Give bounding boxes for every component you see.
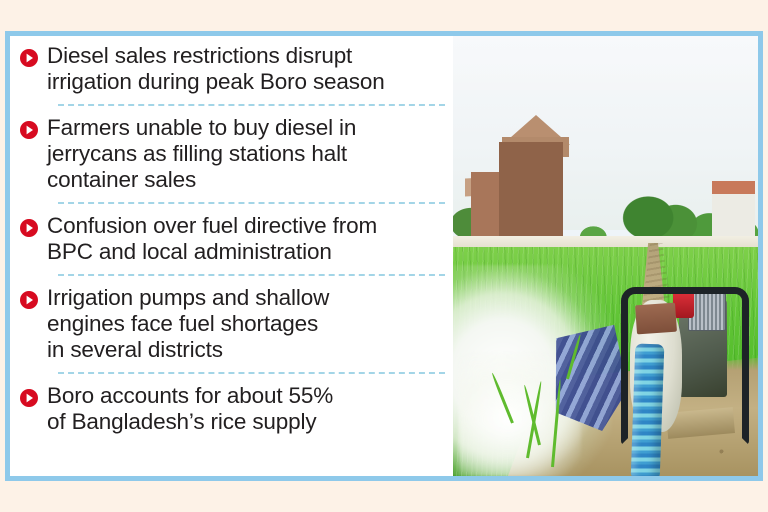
divider: [58, 372, 445, 374]
brick-house: [499, 142, 563, 243]
play-circle-icon: [20, 291, 38, 309]
ribbed-hose: [631, 344, 665, 476]
infographic-card: Diesel sales restrictions disrupt irriga…: [5, 31, 763, 481]
list-item-text: Farmers unable to buy diesel in jerrycan…: [47, 115, 447, 193]
bullet-list: Diesel sales restrictions disrupt irriga…: [10, 36, 453, 476]
irrigation-photo: [453, 36, 758, 476]
list-item: Diesel sales restrictions disrupt irriga…: [10, 43, 453, 95]
list-item-text: Irrigation pumps and shallow engines fac…: [47, 285, 447, 363]
list-item: Farmers unable to buy diesel in jerrycan…: [10, 115, 453, 193]
list-item-text: Confusion over fuel directive from BPC a…: [47, 213, 447, 265]
list-item-text: Boro accounts for about 55% of Banglades…: [47, 383, 447, 435]
divider: [58, 104, 445, 106]
infographic-root: Diesel sales restrictions disrupt irriga…: [0, 0, 768, 512]
play-circle-icon: [20, 219, 38, 237]
play-circle-icon: [20, 49, 38, 67]
photo-stage: [453, 36, 758, 476]
list-item: Confusion over fuel directive from BPC a…: [10, 213, 453, 265]
play-circle-icon: [20, 121, 38, 139]
list-item: Boro accounts for about 55% of Banglades…: [10, 383, 453, 435]
play-circle-icon: [20, 389, 38, 407]
list-item-text: Diesel sales restrictions disrupt irriga…: [47, 43, 447, 95]
list-item: Irrigation pumps and shallow engines fac…: [10, 285, 453, 363]
divider: [58, 274, 445, 276]
divider: [58, 202, 445, 204]
